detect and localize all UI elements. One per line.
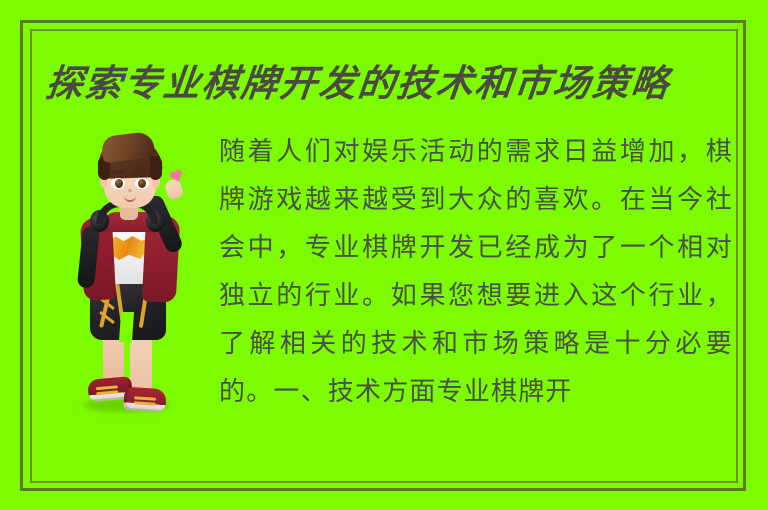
character-shorts-gap (119, 312, 134, 342)
page-title: 探索专业棋牌开发的技术和市场策略 (43, 56, 729, 110)
shoe-stripe-icon (96, 390, 118, 395)
character-illustration (58, 126, 208, 418)
character-nose (128, 189, 132, 192)
character-pupil-left (115, 179, 123, 188)
shoe-stripe-icon (96, 385, 118, 390)
character-hand-finger-heart (163, 178, 184, 201)
shoe-stripe-icon (134, 401, 156, 406)
shoe-stripe-icon (134, 396, 156, 401)
article-body: 随着人们对娱乐活动的需求日益增加，棋牌游戏越来越受到大众的喜欢。在当今社会中，专… (219, 128, 733, 416)
article-card: 探索专业棋牌开发的技术和市场策略 (0, 0, 768, 510)
character-hair-side-right (150, 156, 162, 180)
character-pupil-right (138, 179, 146, 188)
character-shoe-right (123, 387, 167, 413)
